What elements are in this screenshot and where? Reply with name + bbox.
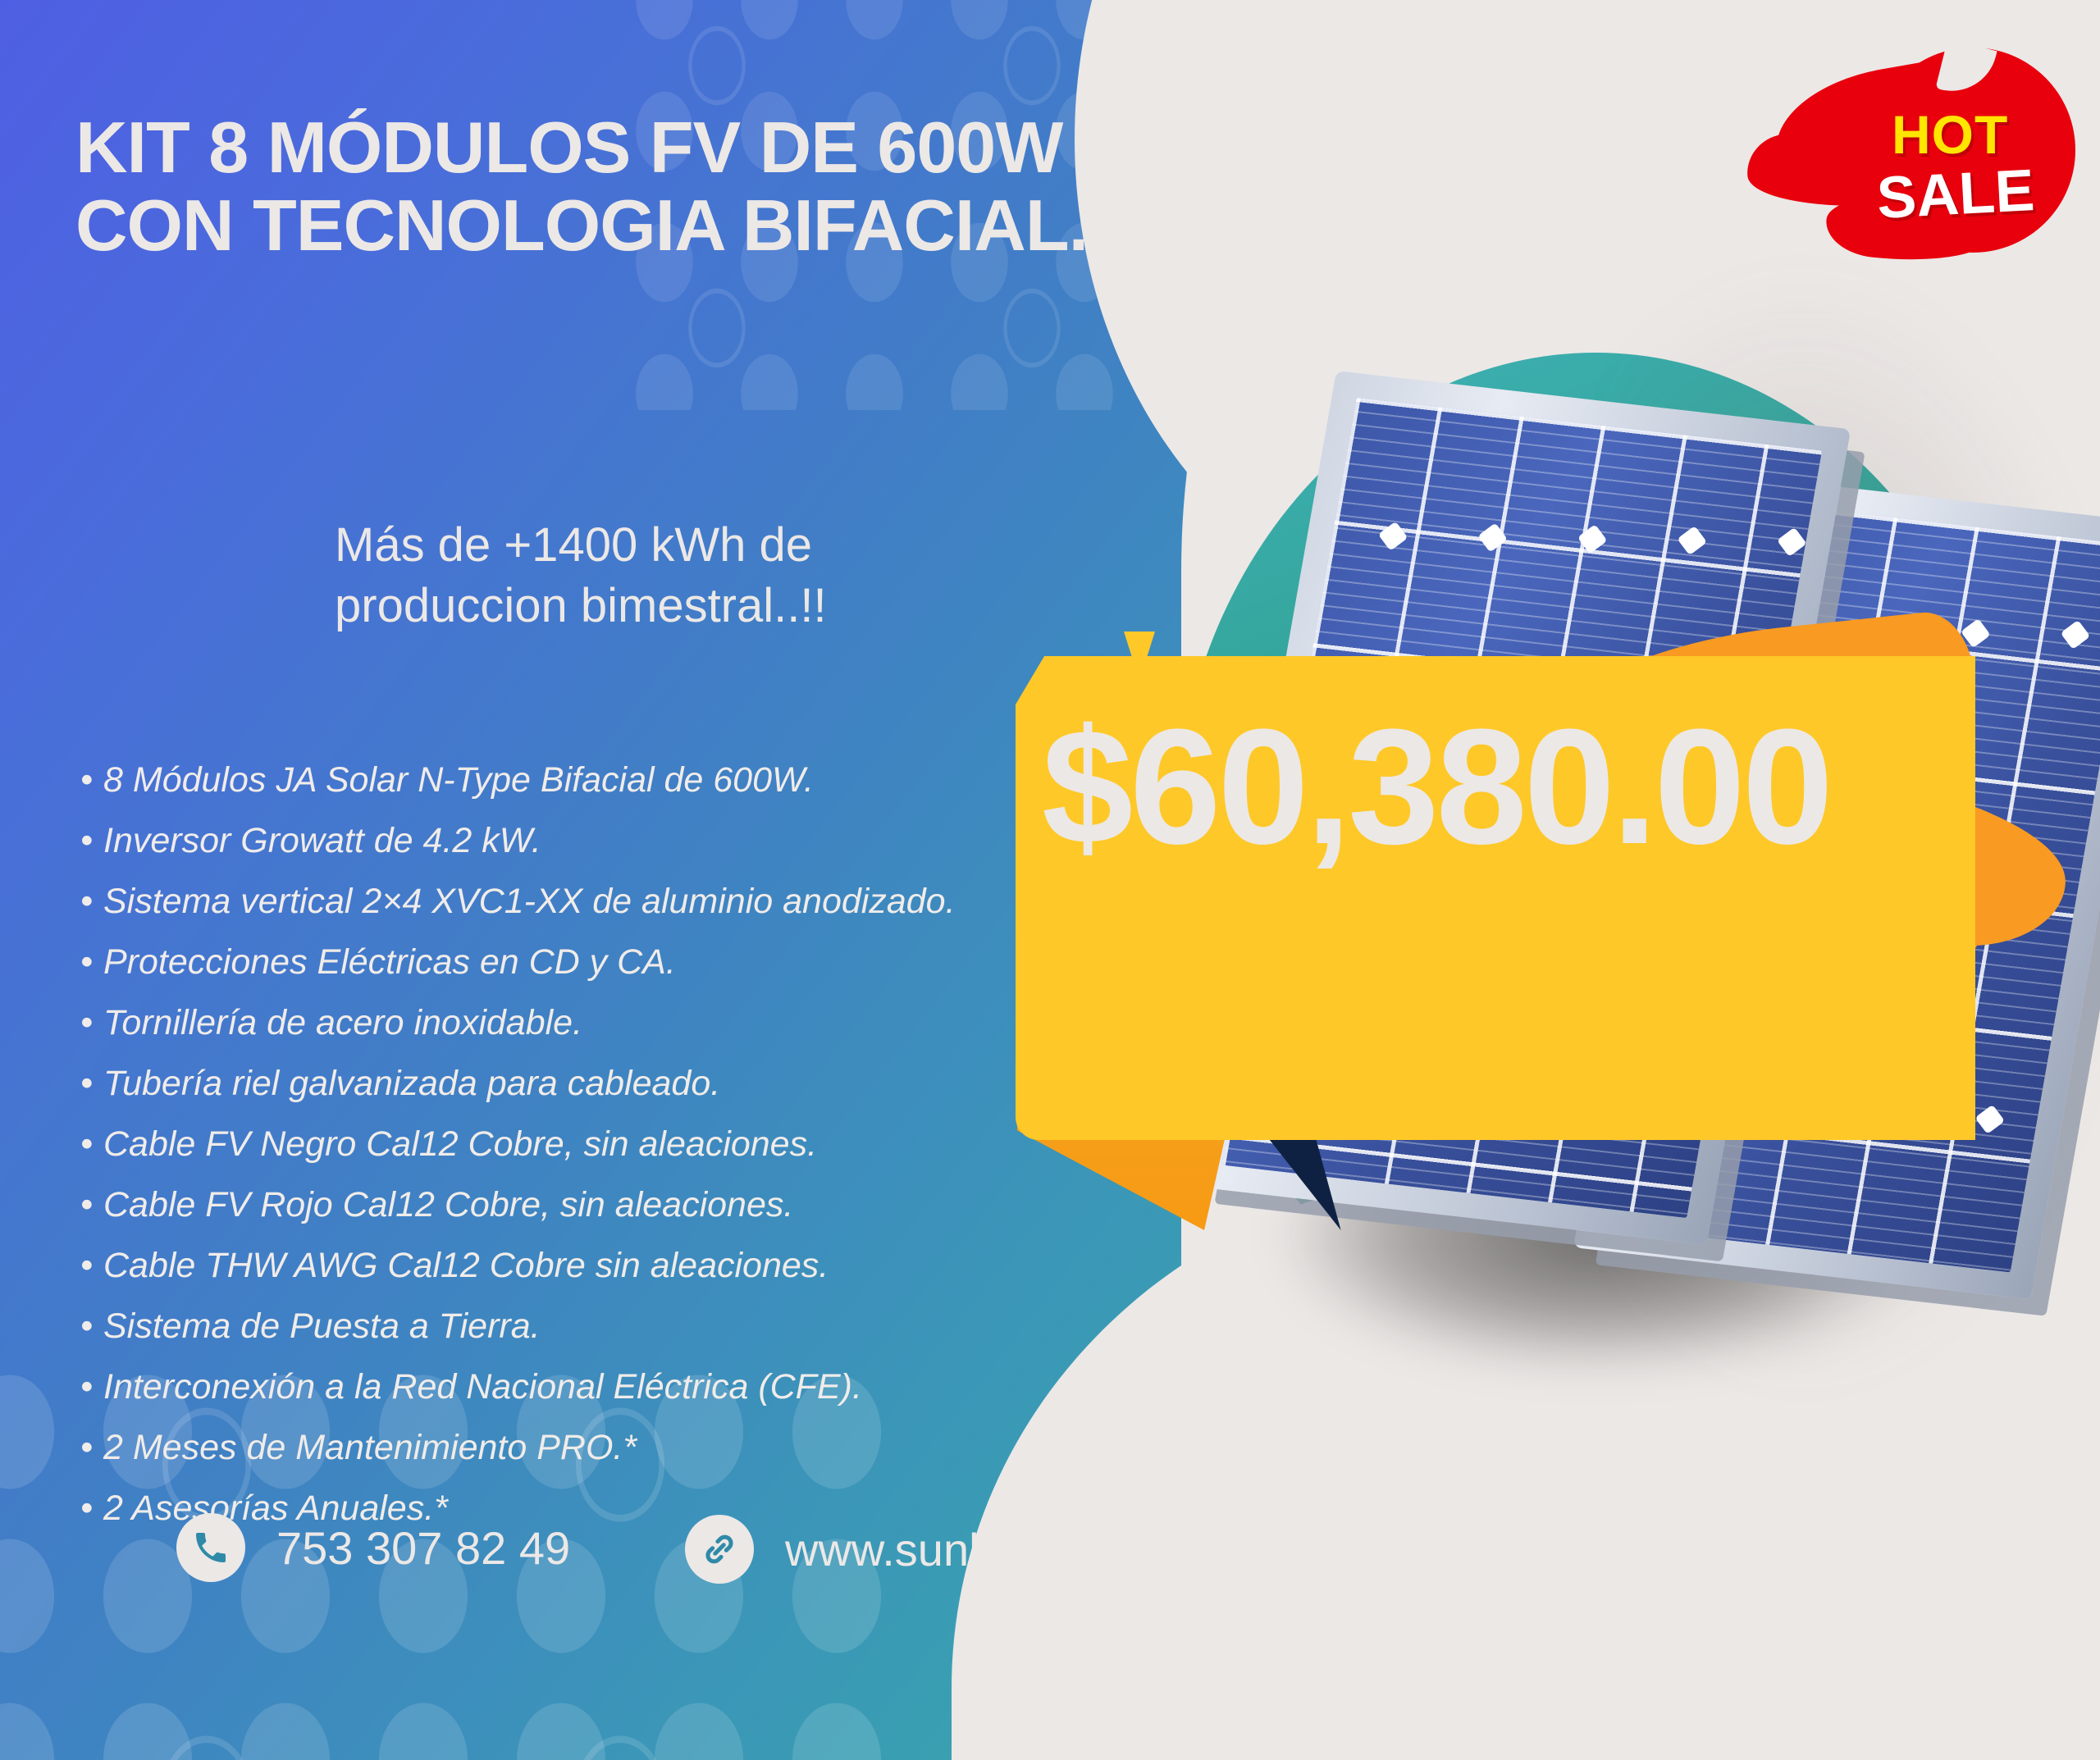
feature-item: •Protecciones Eléctricas en CD y CA. — [80, 945, 1048, 980]
page-title: KIT 8 MÓDULOS FV DE 600W CON TECNOLOGIA … — [75, 108, 1355, 264]
bullet-marker: • — [80, 823, 103, 859]
feature-item: •Inversor Growatt de 4.2 kW. — [80, 823, 1048, 859]
bullet-marker: • — [80, 1309, 103, 1344]
contact-phone[interactable]: 753 307 82 49 — [176, 1513, 570, 1582]
headline-line-1: KIT 8 MÓDULOS FV DE 600W — [75, 108, 1355, 186]
website-url: www.sunlinks.com.mx — [785, 1523, 1235, 1576]
feature-label: Tubería riel galvanizada para cableado. — [103, 1064, 720, 1103]
bullet-marker: • — [80, 1248, 103, 1284]
bullet-marker: • — [80, 1430, 103, 1466]
contact-website[interactable]: www.sunlinks.com.mx — [685, 1515, 1235, 1584]
feature-item: •Sistema de Puesta a Tierra. — [80, 1309, 1048, 1344]
bullet-marker: • — [80, 1066, 103, 1101]
feature-item: •Cable FV Rojo Cal12 Cobre, sin aleacion… — [80, 1188, 1048, 1223]
feature-label: Tornillería de acero inoxidable. — [103, 1003, 582, 1042]
promo-poster: $60,380.00 HOT SALE KIT 8 MÓDULOS FV DE … — [0, 0, 2100, 1760]
subtitle: Más de +1400 kWh de produccion bimestral… — [335, 515, 1073, 636]
feature-label: 8 Módulos JA Solar N-Type Bifacial de 60… — [103, 760, 814, 800]
badge-sale-label: SALE — [1875, 157, 2036, 232]
feature-item: •Tubería riel galvanizada para cableado. — [80, 1066, 1048, 1101]
feature-item: •Cable FV Negro Cal12 Cobre, sin aleacio… — [80, 1127, 1048, 1162]
bullet-marker: • — [80, 1005, 103, 1041]
badge-hot-label: HOT — [1892, 103, 2008, 166]
feature-label: Inversor Growatt de 4.2 kW. — [103, 821, 541, 860]
feature-label: Sistema de Puesta a Tierra. — [103, 1306, 541, 1346]
bullet-marker: • — [80, 1188, 103, 1223]
phone-icon — [176, 1513, 245, 1582]
feature-item: •2 Meses de Mantenimiento PRO.* — [80, 1430, 1048, 1466]
feature-label: 2 Meses de Mantenimiento PRO.* — [103, 1428, 637, 1467]
feature-label: Cable THW AWG Cal12 Cobre sin aleaciones… — [103, 1246, 829, 1285]
feature-item: •Cable THW AWG Cal12 Cobre sin aleacione… — [80, 1248, 1048, 1284]
bullet-marker: • — [80, 763, 103, 798]
subtitle-line-2: produccion bimestral..!! — [335, 576, 1073, 636]
features-list: •8 Módulos JA Solar N-Type Bifacial de 6… — [80, 763, 1048, 1552]
headline-line-2: CON TECNOLOGIA BIFACIAL.!! — [75, 186, 1355, 264]
feature-label: Protecciones Eléctricas en CD y CA. — [103, 942, 676, 982]
bullet-marker: • — [80, 1127, 103, 1162]
hot-sale-badge: HOT SALE — [1747, 39, 2075, 269]
subtitle-line-1: Más de +1400 kWh de — [335, 515, 1073, 576]
feature-label: Cable FV Negro Cal12 Cobre, sin aleacion… — [103, 1124, 817, 1164]
phone-number: 753 307 82 49 — [276, 1521, 570, 1575]
link-icon — [685, 1515, 754, 1584]
feature-label: Sistema vertical 2×4 XVC1-XX de aluminio… — [103, 882, 956, 921]
bullet-marker: • — [80, 1491, 103, 1526]
feature-item: •8 Módulos JA Solar N-Type Bifacial de 6… — [80, 763, 1048, 798]
feature-item: •Tornillería de acero inoxidable. — [80, 1005, 1048, 1041]
price-amount: $60,380.00 — [1042, 705, 2043, 869]
bullet-marker: • — [80, 884, 103, 919]
feature-label: Interconexión a la Red Nacional Eléctric… — [103, 1367, 862, 1407]
feature-item: •Sistema vertical 2×4 XVC1-XX de alumini… — [80, 884, 1048, 919]
bullet-marker: • — [80, 945, 103, 980]
feature-label: Cable FV Rojo Cal12 Cobre, sin aleacione… — [103, 1185, 793, 1224]
bullet-marker: • — [80, 1370, 103, 1405]
feature-item: •Interconexión a la Red Nacional Eléctri… — [80, 1370, 1048, 1405]
